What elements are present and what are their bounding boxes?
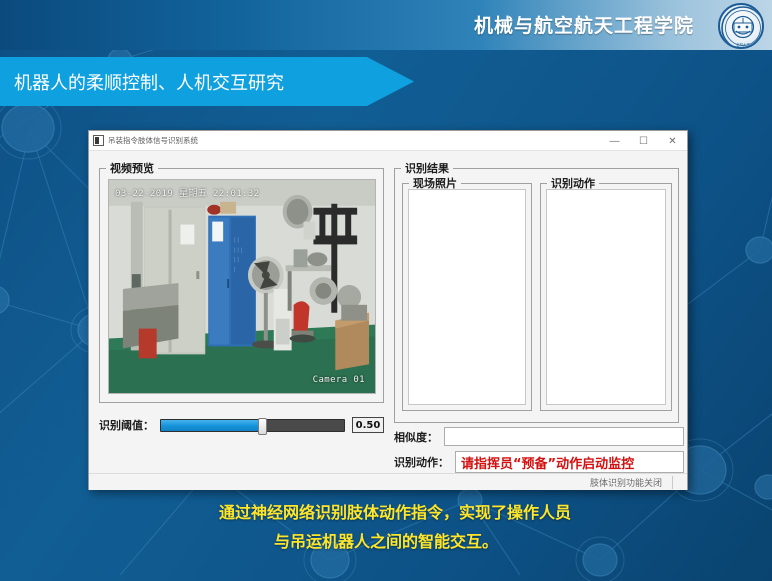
application-window: 吊装指令肢体信号识别系统 — ☐ ✕ 视频预览 bbox=[88, 130, 688, 490]
window-titlebar: 吊装指令肢体信号识别系统 — ☐ ✕ bbox=[89, 131, 687, 151]
svg-text:| |: | | bbox=[234, 257, 239, 263]
recognition-result-groupbox: 识别结果 现场照片 识别动作 bbox=[394, 168, 679, 423]
seal-icon: 吉林大学 bbox=[720, 5, 764, 49]
threshold-slider-thumb[interactable] bbox=[258, 418, 267, 435]
threshold-label: 识别阈值： bbox=[99, 417, 154, 433]
site-photo-pane[interactable] bbox=[408, 189, 526, 405]
window-title-text: 吊装指令肢体信号识别系统 bbox=[108, 135, 198, 146]
action-value-text: 请指挥员“预备”动作启动监控 bbox=[461, 453, 634, 472]
recognition-result-label: 识别结果 bbox=[401, 160, 453, 176]
university-seal-logo: 吉林大学 bbox=[718, 3, 764, 49]
caption-line-2: 与吊运机器人之间的智能交互。 bbox=[0, 527, 772, 556]
threshold-slider[interactable] bbox=[160, 419, 345, 432]
threshold-value-box: 0.50 bbox=[352, 417, 384, 433]
video-preview-label: 视频预览 bbox=[106, 160, 158, 176]
window-client-area: 视频预览 bbox=[89, 151, 687, 490]
similarity-field[interactable] bbox=[444, 427, 684, 446]
workshop-camera-scene: | || | | | || bbox=[109, 180, 375, 393]
section-title-text: 机器人的柔顺控制、人机交互研究 bbox=[14, 69, 284, 95]
video-feed-image[interactable]: | || | | | || bbox=[108, 179, 376, 394]
caption-line-1: 通过神经网络识别肢体动作指令，实现了操作人员 bbox=[0, 498, 772, 527]
section-title-banner: 机器人的柔顺控制、人机交互研究 bbox=[0, 57, 414, 106]
institution-title: 机械与航空航天工程学院 bbox=[474, 11, 694, 38]
slide-header-bar: 机械与航空航天工程学院 吉林大学 bbox=[0, 0, 772, 50]
minimize-button[interactable]: — bbox=[600, 131, 629, 151]
action-field[interactable]: 请指挥员“预备”动作启动监控 bbox=[455, 451, 684, 473]
window-statusbar: 肢体识别功能关闭 bbox=[89, 473, 687, 490]
status-text: 肢体识别功能关闭 bbox=[590, 476, 673, 489]
slide-caption: 通过神经网络识别肢体动作指令，实现了操作人员 与吊运机器人之间的智能交互。 bbox=[0, 498, 772, 556]
video-timestamp-overlay: 03-22-2019 星期五 22:01:32 bbox=[115, 186, 260, 199]
video-camera-label-overlay: Camera 01 bbox=[313, 375, 365, 385]
threshold-control-row: 识别阈值： 0.50 bbox=[99, 415, 389, 435]
svg-text:| | |: | | | bbox=[234, 247, 242, 253]
video-preview-groupbox: 视频预览 bbox=[99, 168, 384, 403]
site-photo-groupbox: 现场照片 bbox=[402, 183, 532, 411]
similarity-row: 相似度： bbox=[394, 427, 684, 446]
action-label: 识别动作： bbox=[394, 454, 449, 470]
app-window-icon bbox=[93, 135, 104, 146]
similarity-label: 相似度： bbox=[394, 429, 438, 445]
close-button[interactable]: ✕ bbox=[658, 131, 687, 151]
svg-text:吉林大学: 吉林大学 bbox=[736, 42, 750, 47]
recognized-action-pane[interactable] bbox=[546, 189, 666, 405]
slide-canvas: 机械与航空航天工程学院 吉林大学 机器人的柔顺控制、人机交互研究 吊装指令肢体信… bbox=[0, 0, 772, 581]
maximize-button[interactable]: ☐ bbox=[629, 131, 658, 151]
svg-text:| |: | | bbox=[234, 237, 239, 243]
action-row: 识别动作： 请指挥员“预备”动作启动监控 bbox=[394, 451, 684, 473]
threshold-slider-fill bbox=[161, 420, 262, 431]
recognized-action-groupbox: 识别动作 bbox=[540, 183, 672, 411]
